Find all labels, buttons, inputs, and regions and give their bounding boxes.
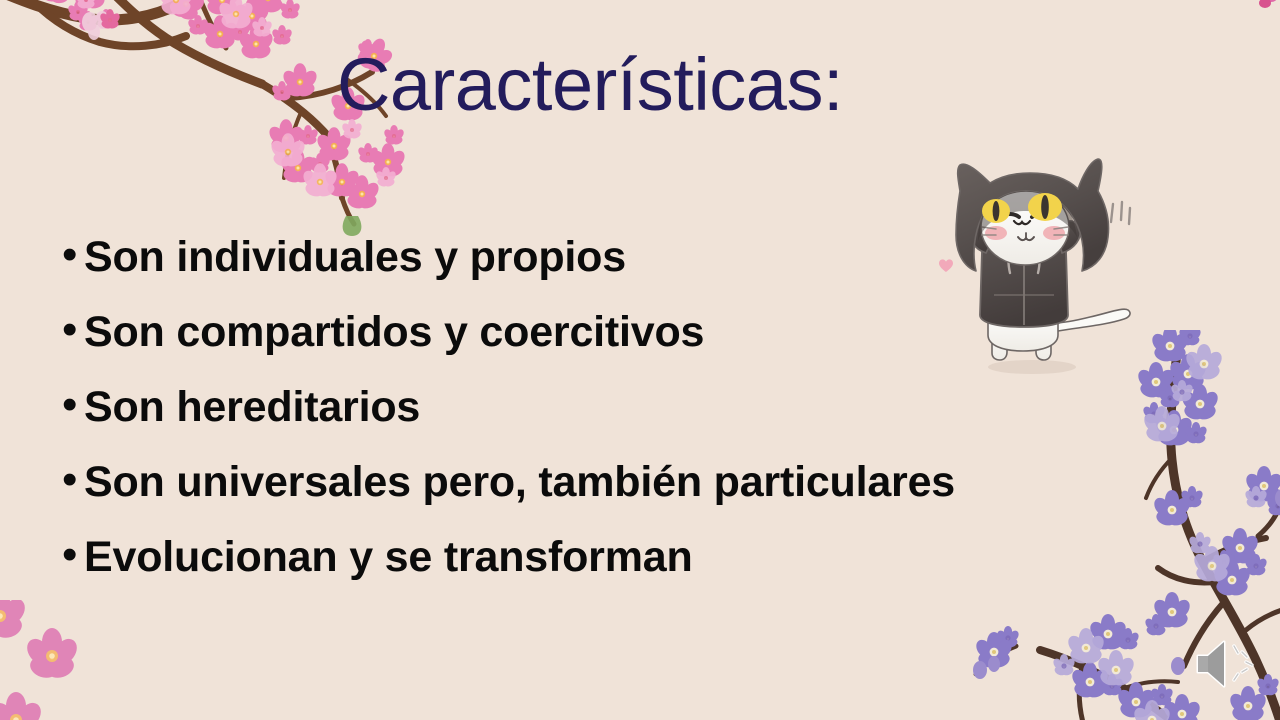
cherry-blossom-icon xyxy=(0,600,170,720)
bullet-marker-icon: • xyxy=(62,458,84,502)
list-item: • Son universales pero, también particul… xyxy=(62,460,1182,535)
cherry-blossom-icon xyxy=(1216,0,1280,32)
list-item: • Son hereditarios xyxy=(62,385,1182,460)
bullet-marker-icon: • xyxy=(62,383,84,427)
list-item-label: Son compartidos y coercitivos xyxy=(84,311,704,354)
bullet-marker-icon: • xyxy=(62,308,84,352)
list-item-label: Son individuales y propios xyxy=(84,236,626,279)
list-item-label: Evolucionan y se transforman xyxy=(84,536,693,579)
presentation-slide: Características: • Son individuales y pr… xyxy=(0,0,1280,720)
cat-hoodie-illustration xyxy=(940,155,1135,375)
bullet-marker-icon: • xyxy=(62,233,84,277)
list-item-label: Son universales pero, también particular… xyxy=(84,461,955,504)
list-item-label: Son hereditarios xyxy=(84,386,420,429)
speaker-sound-icon[interactable] xyxy=(1194,636,1258,692)
bullet-marker-icon: • xyxy=(62,533,84,577)
slide-title: Características: xyxy=(0,48,1280,122)
list-item: • Evolucionan y se transforman xyxy=(62,535,1182,610)
